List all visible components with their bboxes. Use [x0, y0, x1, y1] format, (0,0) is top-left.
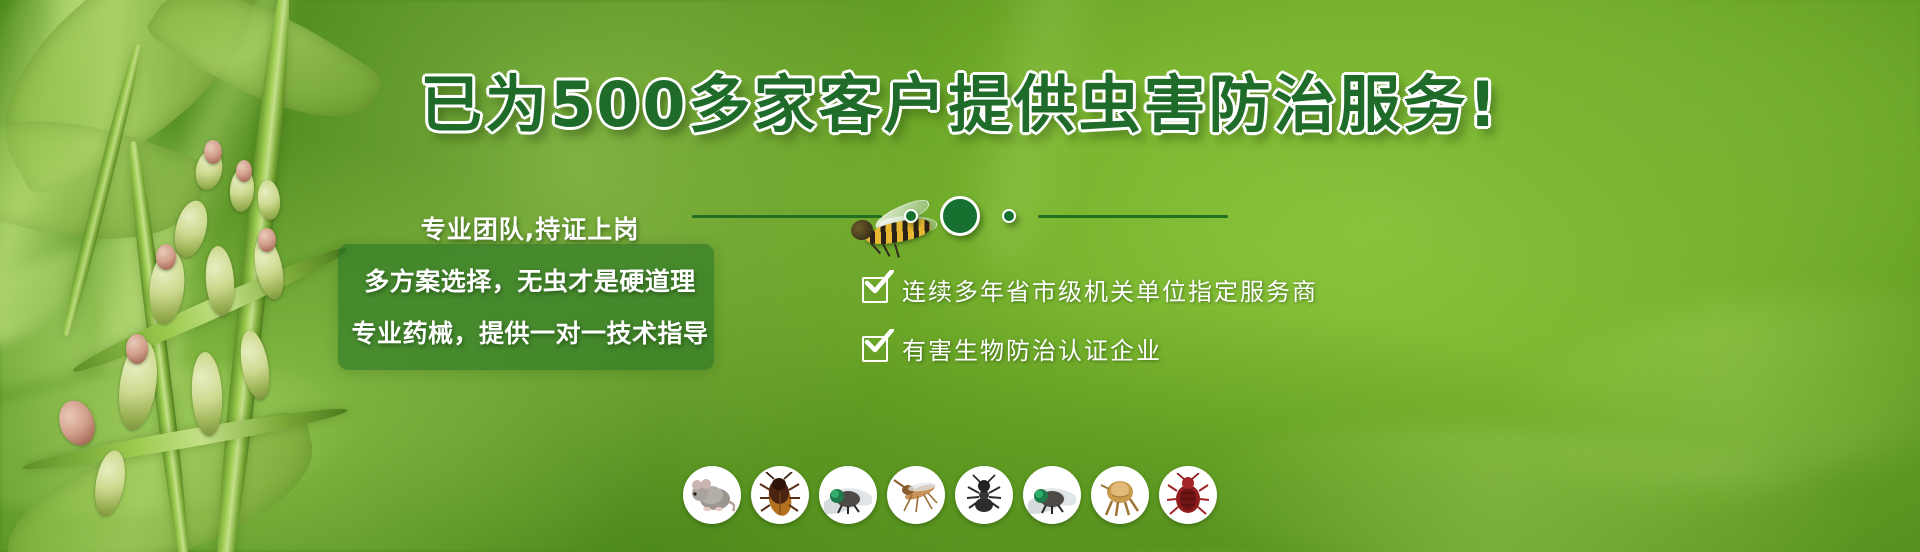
mouse-icon[interactable]: [683, 466, 741, 524]
page-title: 已为500多家客户提供虫害防治服务!: [0, 74, 1920, 136]
hoverfly-decoration: [845, 198, 965, 268]
pest-control-banner: 已为500多家客户提供虫害防治服务! 专业团队,持证上岗 多方案选择，无虫才是硬…: [0, 0, 1920, 552]
feature-panel-text: 专业团队,持证上岗 多方案选择，无虫才是硬道理 专业药械，提供一对一技术指导: [330, 210, 730, 350]
list-item-label: 有害生物防治认证企业: [902, 331, 1162, 366]
ant-icon[interactable]: [955, 466, 1013, 524]
panel-line-3: 专业药械，提供一对一技术指导: [351, 314, 708, 350]
credentials-list: 连续多年省市级机关单位指定服务商 有害生物防治认证企业: [862, 272, 1318, 366]
checkbox-checked-icon: [862, 336, 888, 362]
blowfly-icon[interactable]: [1023, 466, 1081, 524]
panel-line-2: 多方案选择，无虫才是硬道理: [364, 262, 696, 298]
cockroach-icon[interactable]: [751, 466, 809, 524]
checkbox-checked-icon: [862, 277, 888, 303]
flea-icon[interactable]: [1091, 466, 1149, 524]
list-item: 连续多年省市级机关单位指定服务商: [862, 272, 1318, 307]
fly-icon[interactable]: [819, 466, 877, 524]
mosquito-icon[interactable]: [887, 466, 945, 524]
list-item-label: 连续多年省市级机关单位指定服务商: [902, 272, 1318, 307]
panel-line-1: 专业团队,持证上岗: [421, 210, 640, 246]
pest-icon-row: [683, 466, 1217, 524]
list-item: 有害生物防治认证企业: [862, 331, 1318, 366]
bedbug-icon[interactable]: [1159, 466, 1217, 524]
